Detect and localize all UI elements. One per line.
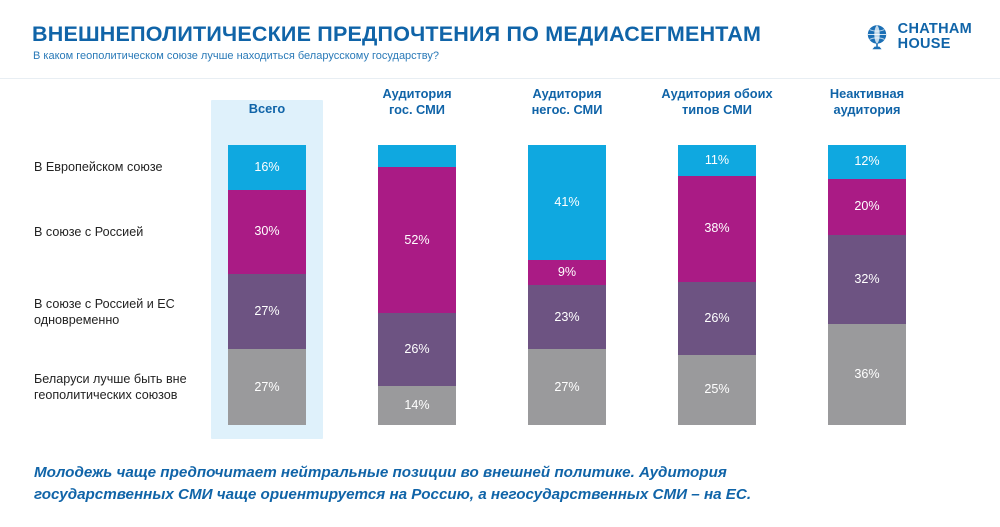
stacked-bar[interactable]: 52%26%14% — [378, 145, 456, 425]
bar-segment-2[interactable]: 30% — [228, 190, 306, 274]
row-label-4: Беларуси лучше быть внегеополитических с… — [34, 371, 219, 403]
logo-line-2: HOUSE — [898, 37, 972, 52]
chatham-house-logo: CHATHAM HOUSE — [863, 22, 972, 52]
segment-value-label: 27% — [254, 305, 279, 318]
chart-column-4: Аудитория обоихтипов СМИ11%38%26%25% — [678, 86, 756, 425]
column-header-line: типов СМИ — [652, 102, 782, 118]
bar-segment-3[interactable]: 27% — [228, 274, 306, 350]
column-header-line: Неактивная — [802, 86, 932, 102]
segment-value-label: 32% — [854, 273, 879, 286]
logo-wordmark: CHATHAM HOUSE — [898, 22, 972, 52]
bar-segment-2[interactable]: 9% — [528, 260, 606, 285]
row-label-line: геополитических союзов — [34, 387, 219, 403]
row-label-line: В союзе с Россией — [34, 224, 219, 240]
bar-segment-4[interactable]: 27% — [528, 349, 606, 425]
column-header-2: Аудиториягос. СМИ — [352, 86, 482, 117]
bar-segment-2[interactable]: 52% — [378, 167, 456, 313]
column-header-1: Всего — [202, 86, 332, 117]
column-header-line: Аудитория обоих — [652, 86, 782, 102]
segment-value-label: 23% — [554, 311, 579, 324]
column-header-4: Аудитория обоихтипов СМИ — [652, 86, 782, 117]
column-header-line: Аудитория — [502, 86, 632, 102]
segment-value-label: 9% — [558, 266, 576, 279]
chart-column-3: Аудиториянегос. СМИ41%9%23%27% — [528, 86, 606, 425]
caption-line-1: Молодежь чаще предпочитает нейтральные п… — [34, 462, 964, 484]
column-header-line: Всего — [202, 101, 332, 117]
row-label-line: Беларуси лучше быть вне — [34, 371, 219, 387]
row-label-3: В союзе с Россией и ЕСодновременно — [34, 296, 219, 328]
page-title: ВНЕШНЕПОЛИТИЧЕСКИЕ ПРЕДПОЧТЕНИЯ ПО МЕДИА… — [32, 22, 761, 47]
segment-value-label: 41% — [554, 196, 579, 209]
row-label-line: В Европейском союзе — [34, 159, 219, 175]
bar-segment-3[interactable]: 23% — [528, 285, 606, 349]
row-label-legend: В Европейском союзеВ союзе с РоссиейВ со… — [34, 86, 219, 446]
bar-segment-3[interactable]: 32% — [828, 235, 906, 325]
column-header-5: Неактивнаяаудитория — [802, 86, 932, 117]
segment-value-label: 12% — [854, 155, 879, 168]
row-label-line: В союзе с Россией и ЕС — [34, 296, 219, 312]
bar-segment-4[interactable]: 36% — [828, 324, 906, 425]
chart-caption: Молодежь чаще предпочитает нейтральные п… — [34, 462, 964, 506]
caption-line-2: государственных СМИ чаще ориентируется н… — [34, 484, 964, 506]
page-subtitle: В каком геополитическом союзе лучше нахо… — [33, 50, 439, 62]
row-label-1: В Европейском союзе — [34, 159, 219, 175]
bar-segment-1[interactable]: 11% — [678, 145, 756, 176]
bar-segment-4[interactable]: 27% — [228, 349, 306, 425]
column-header-line: Аудитория — [352, 86, 482, 102]
stacked-bar[interactable]: 16%30%27%27% — [228, 145, 306, 425]
row-label-2: В союзе с Россией — [34, 224, 219, 240]
bar-segment-4[interactable]: 25% — [678, 355, 756, 425]
segment-value-label: 20% — [854, 200, 879, 213]
stacked-bar-chart: В Европейском союзеВ союзе с РоссиейВ со… — [0, 86, 1000, 446]
bar-segment-2[interactable]: 38% — [678, 176, 756, 282]
bar-segment-1[interactable] — [378, 145, 456, 167]
globe-icon — [863, 23, 891, 51]
chart-column-1: Всего16%30%27%27% — [228, 86, 306, 425]
segment-value-label: 16% — [254, 161, 279, 174]
segment-value-label: 11% — [705, 154, 729, 167]
segment-value-label: 14% — [404, 399, 429, 412]
bar-segment-4[interactable]: 14% — [378, 386, 456, 425]
stacked-bar[interactable]: 41%9%23%27% — [528, 145, 606, 425]
stacked-bar[interactable]: 12%20%32%36% — [828, 145, 906, 425]
bar-segment-1[interactable]: 41% — [528, 145, 606, 260]
logo-line-1: CHATHAM — [898, 22, 972, 37]
bar-segment-3[interactable]: 26% — [678, 282, 756, 355]
segment-value-label: 26% — [404, 343, 429, 356]
row-label-line: одновременно — [34, 312, 219, 328]
segment-value-label: 30% — [254, 225, 279, 238]
bar-segment-1[interactable]: 16% — [228, 145, 306, 190]
segment-value-label: 52% — [404, 234, 429, 247]
column-header-3: Аудиториянегос. СМИ — [502, 86, 632, 117]
header-divider — [0, 78, 1000, 79]
column-header-line: негос. СМИ — [502, 102, 632, 118]
segment-value-label: 25% — [704, 383, 729, 396]
column-header-line: гос. СМИ — [352, 102, 482, 118]
segment-value-label: 27% — [254, 381, 279, 394]
segment-value-label: 36% — [854, 368, 879, 381]
stacked-bar[interactable]: 11%38%26%25% — [678, 145, 756, 425]
segment-value-label: 26% — [704, 312, 729, 325]
column-header-line: аудитория — [802, 102, 932, 118]
page-header: ВНЕШНЕПОЛИТИЧЕСКИЕ ПРЕДПОЧТЕНИЯ ПО МЕДИА… — [0, 0, 1000, 72]
chart-column-5: Неактивнаяаудитория12%20%32%36% — [828, 86, 906, 425]
bar-segment-3[interactable]: 26% — [378, 313, 456, 386]
bar-segment-1[interactable]: 12% — [828, 145, 906, 179]
bar-segment-2[interactable]: 20% — [828, 179, 906, 235]
segment-value-label: 38% — [704, 222, 729, 235]
segment-value-label: 27% — [554, 381, 579, 394]
chart-column-2: Аудиториягос. СМИ52%26%14% — [378, 86, 456, 425]
